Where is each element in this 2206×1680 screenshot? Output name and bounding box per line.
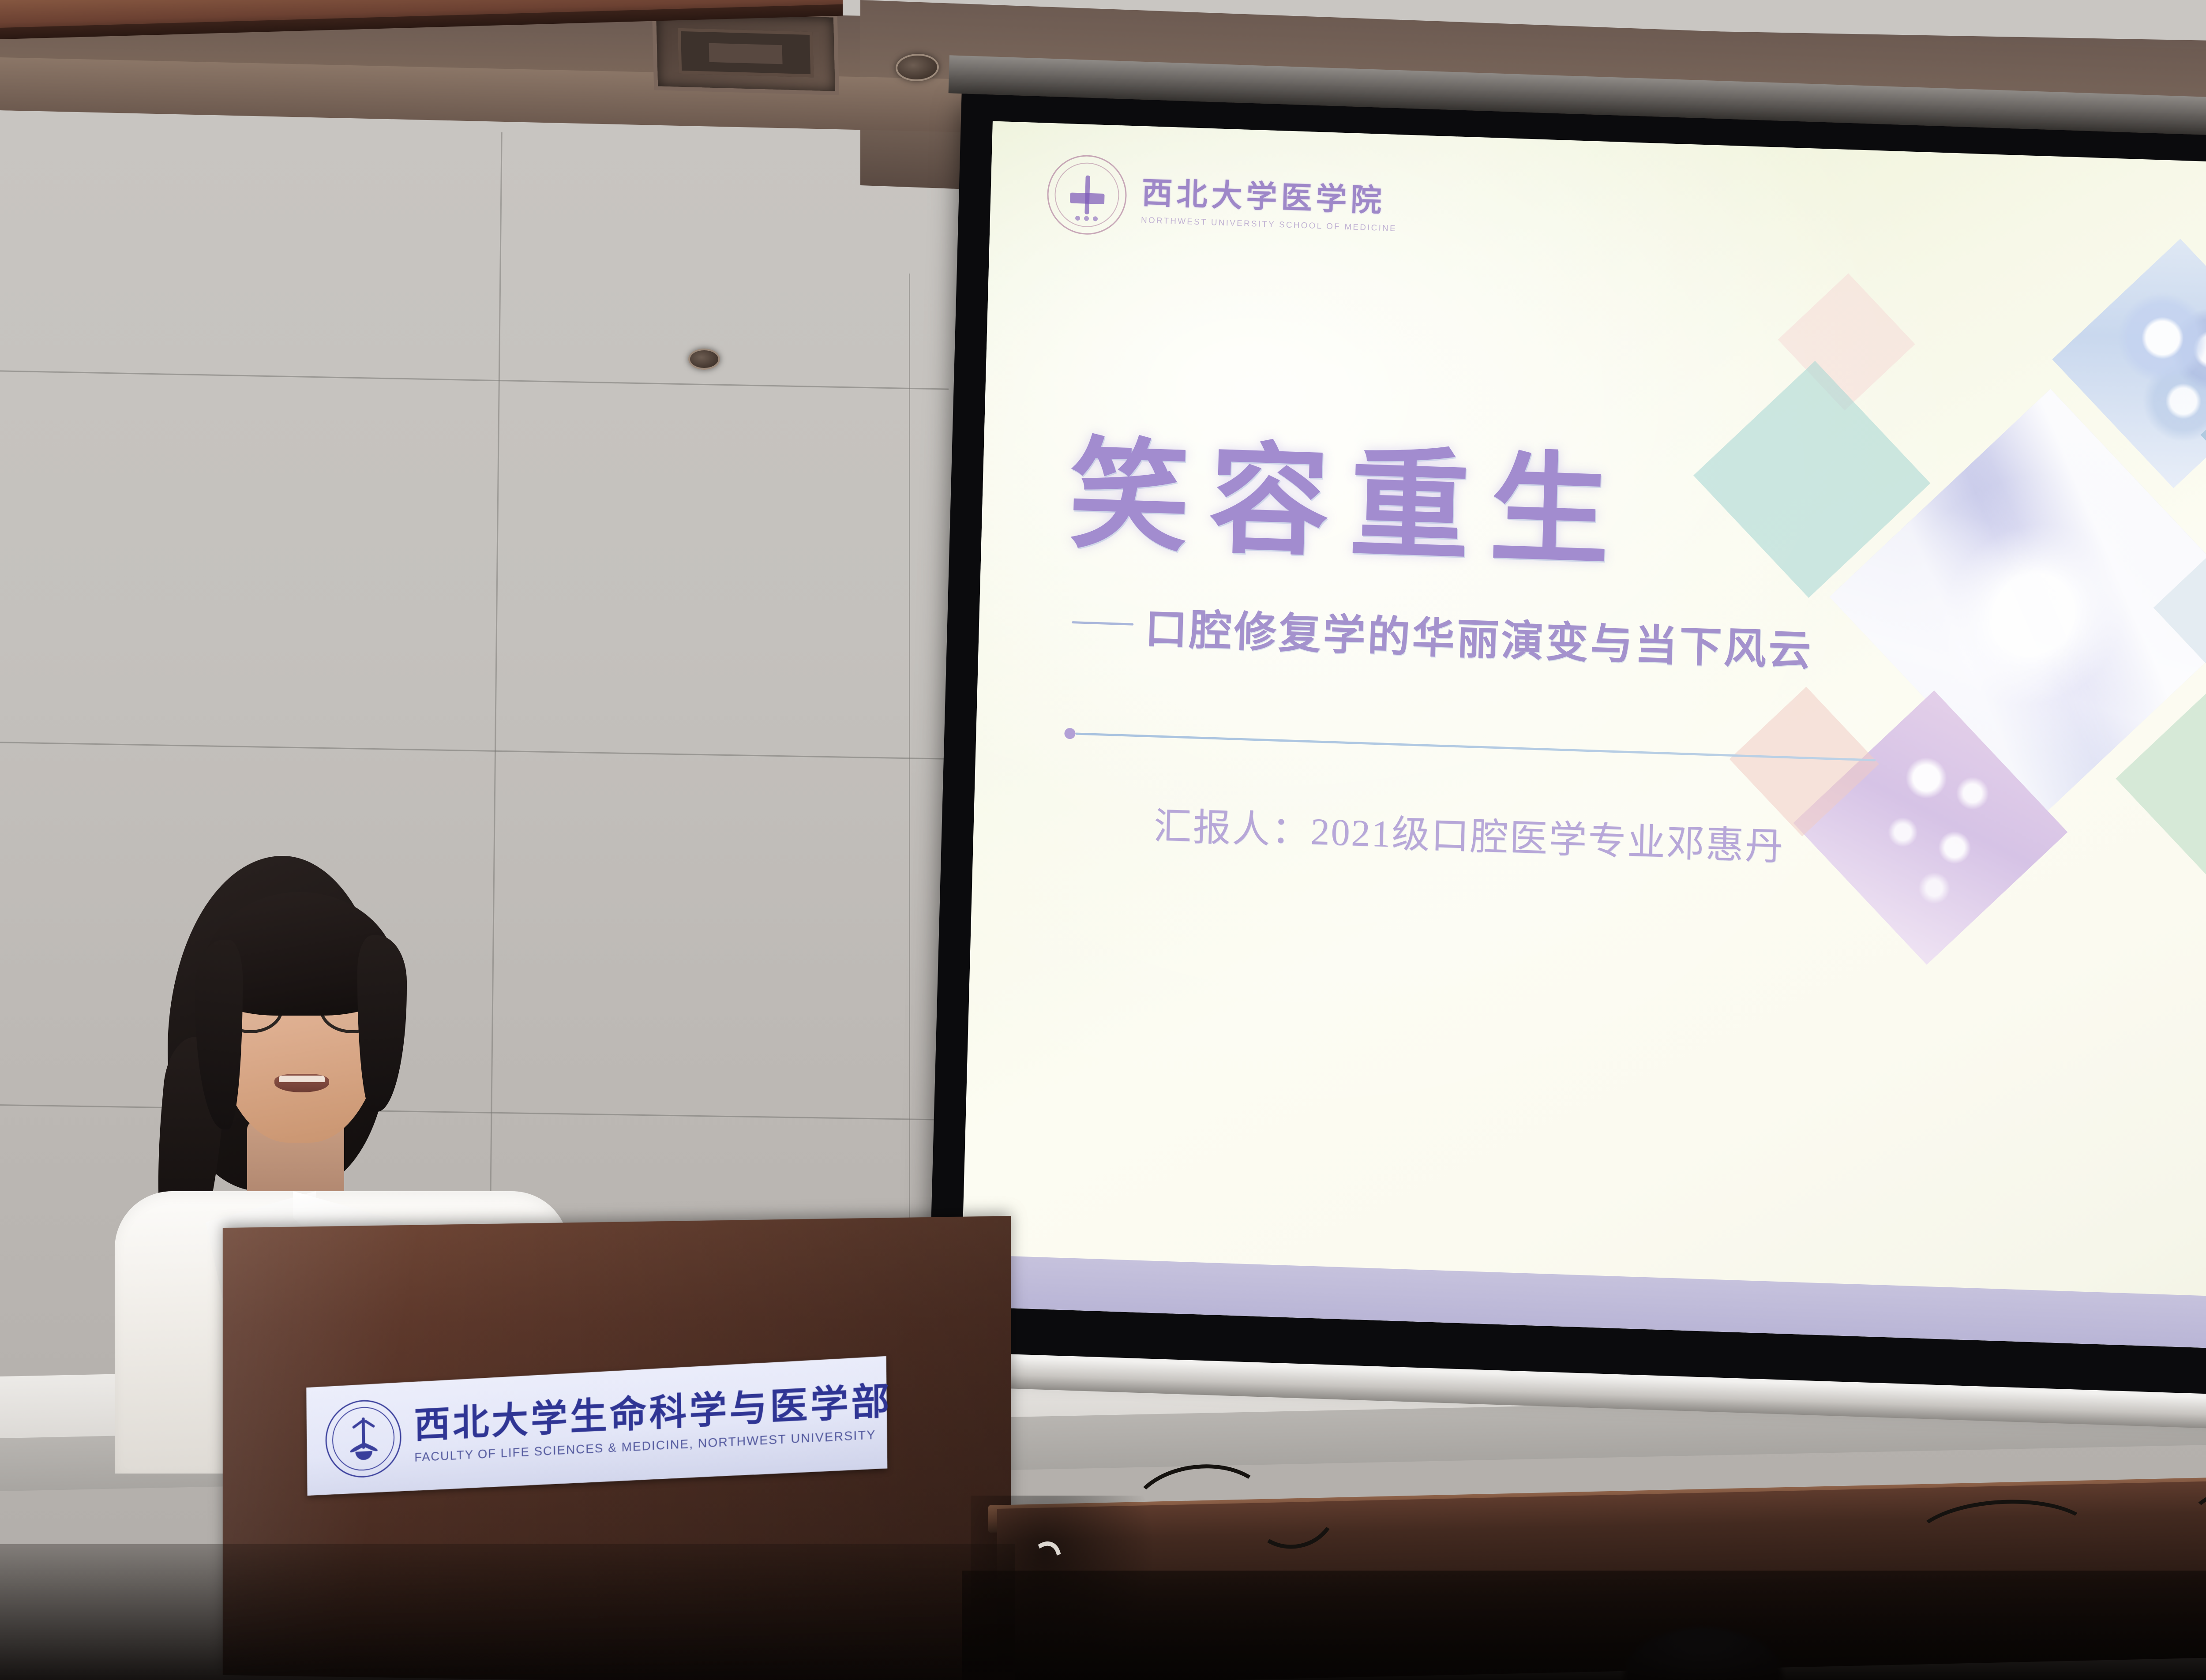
podium-plaque-text: 西北大学生命科学与医学部 FACULTY OF LIFE SCIENCES & … (414, 1383, 893, 1464)
divider-dot-icon (1064, 727, 1076, 739)
projection-screen: 西北大学医学院 NORTHWEST UNIVERSITY SCHOOL OF M… (927, 94, 2206, 1406)
foreground-shadow-left (0, 1544, 1015, 1680)
speaker-hair-side-right (357, 935, 407, 1112)
slide-title-block: 笑容重生 口腔修复学的华丽演变与当下风云 汇报人：2021级口腔医学专业邓惠丹 (1060, 433, 1966, 877)
divider-line (1075, 732, 1876, 761)
slide-subtitle: 口腔修复学的华丽演变与当下风云 (1144, 594, 1814, 677)
lecture-hall-scene: 西北大学医学院 NORTHWEST UNIVERSITY SCHOOL OF M… (0, 0, 2206, 1680)
faculty-emblem-icon (325, 1398, 402, 1479)
slide-divider (1064, 727, 1876, 765)
presentation-slide: 西北大学医学院 NORTHWEST UNIVERSITY SCHOOL OF M… (960, 121, 2206, 1356)
subtitle-dash-icon (1072, 621, 1133, 626)
speaker-mouth (274, 1074, 329, 1092)
ceiling-vent-icon (652, 8, 839, 95)
slide-subtitle-row: 口腔修复学的华丽演变与当下风云 (1071, 592, 1962, 682)
downlight-icon (688, 349, 720, 370)
logo-name-cn: 西北大学医学院 (1141, 168, 1398, 221)
foreground-shadow (962, 1571, 2206, 1680)
caduceus-lotus-icon (345, 1414, 382, 1463)
emblem-dots (1048, 215, 1125, 222)
slide-logo-text: 西北大学医学院 NORTHWEST UNIVERSITY SCHOOL OF M… (1141, 168, 1398, 234)
university-emblem-icon (1046, 154, 1128, 236)
slide-presenter: 汇报人：2021级口腔医学专业邓惠丹 (1153, 795, 1956, 876)
medical-cross-icon (1066, 174, 1107, 216)
slide-logo: 西北大学医学院 NORTHWEST UNIVERSITY SCHOOL OF M… (1046, 154, 1399, 245)
